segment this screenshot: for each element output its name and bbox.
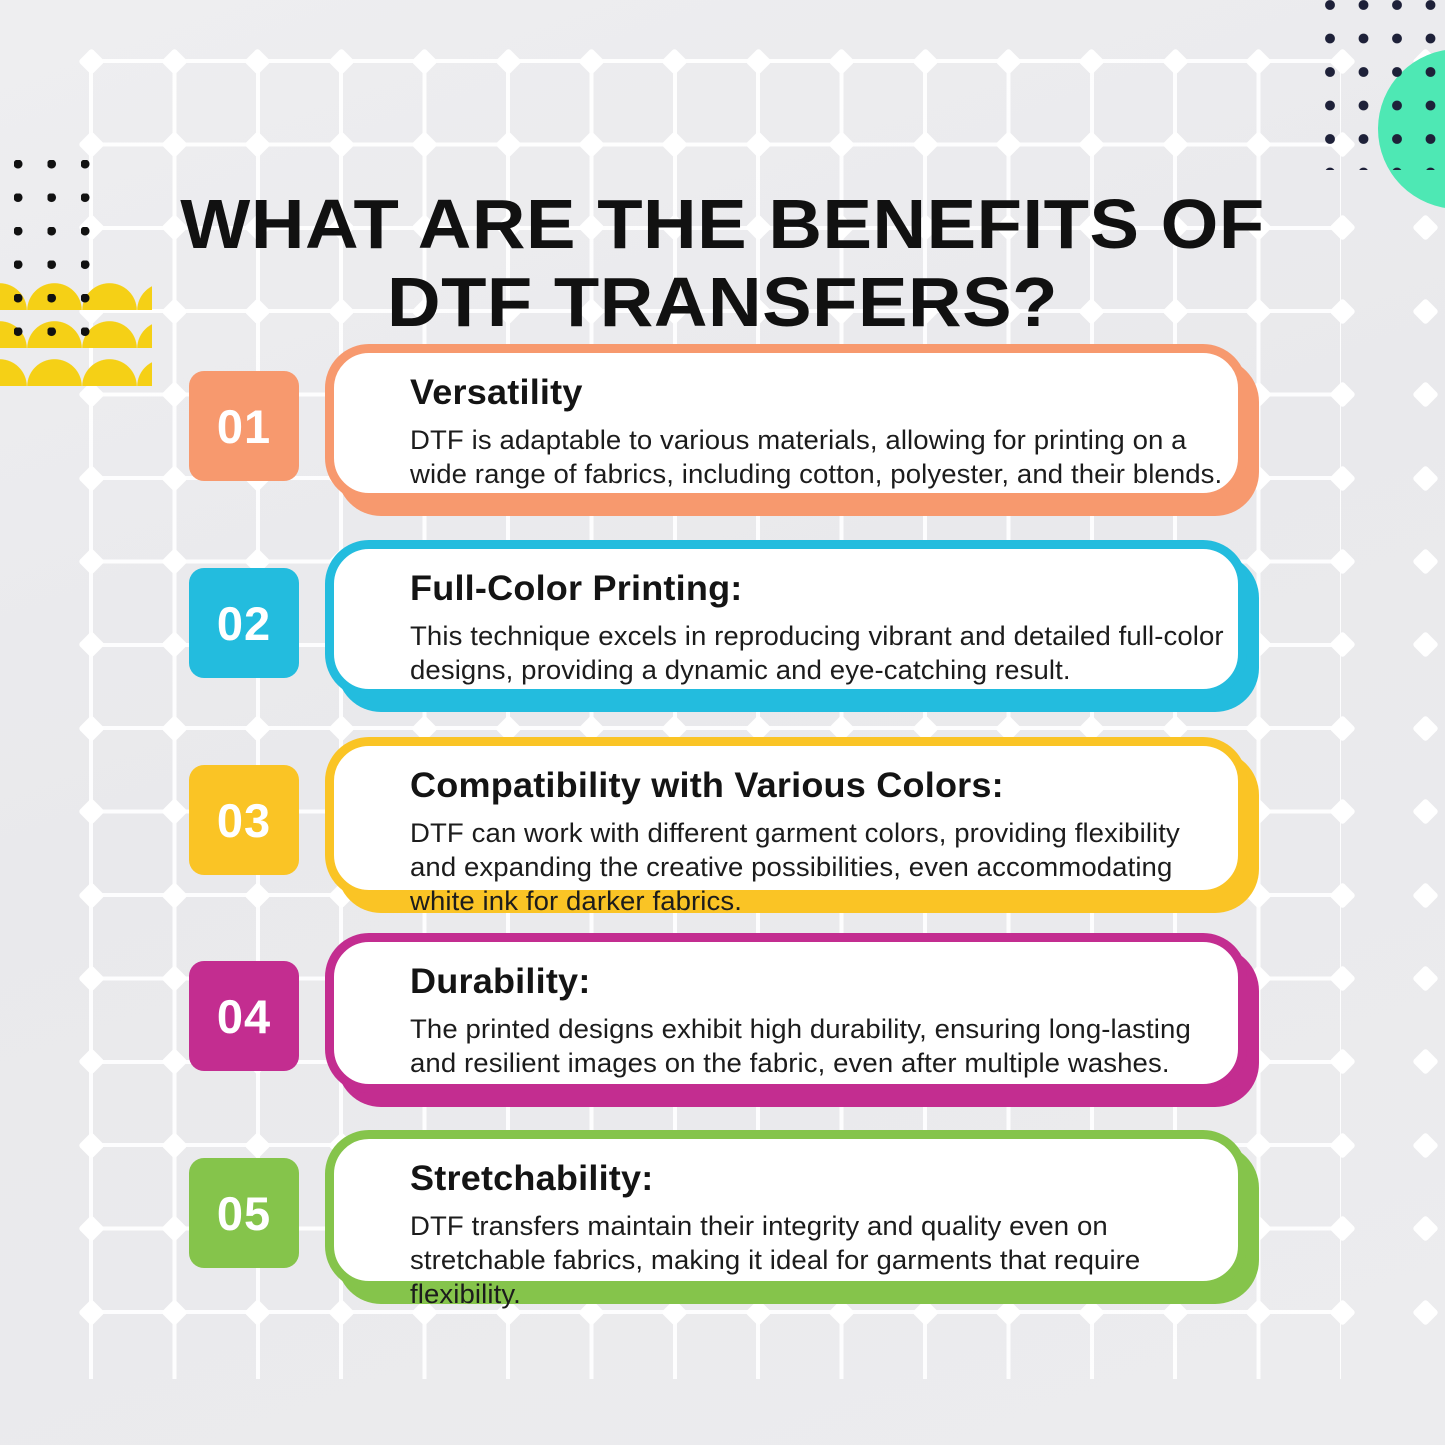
benefit-number-badge: 03 <box>189 765 299 875</box>
benefit-description: This technique excels in reproducing vib… <box>410 619 1224 687</box>
benefit-description: DTF can work with different garment colo… <box>410 816 1224 918</box>
benefit-title: Versatility <box>410 372 1232 414</box>
benefit-card: Durability:The printed designs exhibit h… <box>325 933 1247 1093</box>
benefit-title: Compatibility with Various Colors: <box>410 765 1232 807</box>
benefit-card: Full-Color Printing:This technique excel… <box>325 540 1247 698</box>
benefit-number-badge: 04 <box>189 961 299 1071</box>
benefit-card: Compatibility with Various Colors:DTF ca… <box>325 737 1247 899</box>
benefits-list: VersatilityDTF is adaptable to various m… <box>0 0 1445 1445</box>
benefit-number-badge: 05 <box>189 1158 299 1268</box>
benefit-number-badge: 02 <box>189 568 299 678</box>
benefit-title: Stretchability: <box>410 1158 1232 1200</box>
benefit-number-badge: 01 <box>189 371 299 481</box>
benefit-description: DTF transfers maintain their integrity a… <box>410 1209 1224 1311</box>
benefit-card: VersatilityDTF is adaptable to various m… <box>325 344 1247 502</box>
benefit-card: Stretchability:DTF transfers maintain th… <box>325 1130 1247 1290</box>
benefit-description: DTF is adaptable to various materials, a… <box>410 423 1224 491</box>
benefit-title: Full-Color Printing: <box>410 568 1232 610</box>
benefit-description: The printed designs exhibit high durabil… <box>410 1012 1224 1080</box>
benefit-title: Durability: <box>410 961 1232 1003</box>
